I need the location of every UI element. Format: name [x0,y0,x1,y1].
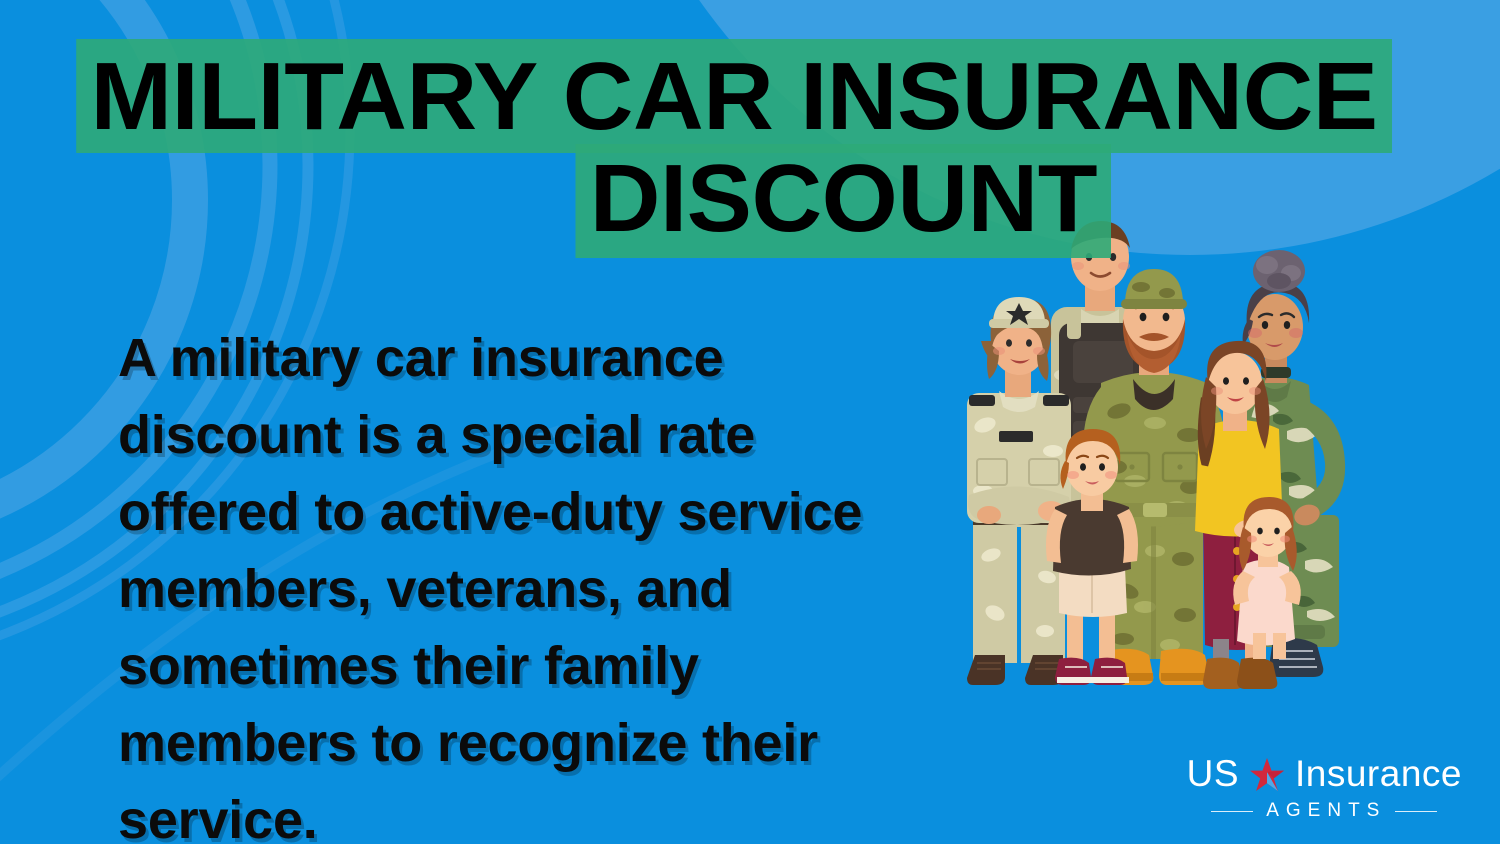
logo-insurance-text: Insurance [1295,753,1462,795]
logo-us-text: US [1187,753,1239,795]
logo-rule-left [1211,811,1253,812]
logo-bottom-row: AGENTS [1187,800,1462,822]
brand-logo[interactable]: US Insurance AGENTS [1187,753,1462,822]
logo-agents-text: AGENTS [1262,800,1386,822]
star-icon [1250,758,1284,791]
military-family-svg [955,215,1385,695]
body-paragraph: A military car insurance discount is a s… [118,320,918,844]
military-family-illustration [955,215,1385,695]
title-line-2: DISCOUNT [575,144,1111,258]
logo-top-row: US Insurance [1187,753,1462,795]
infographic-canvas: MILITARY CAR INSURANCE DISCOUNT A milita… [0,0,1500,844]
logo-rule-right [1395,811,1437,812]
title-line-1: MILITARY CAR INSURANCE [76,39,1392,153]
page-title: MILITARY CAR INSURANCE DISCOUNT [0,0,1500,258]
